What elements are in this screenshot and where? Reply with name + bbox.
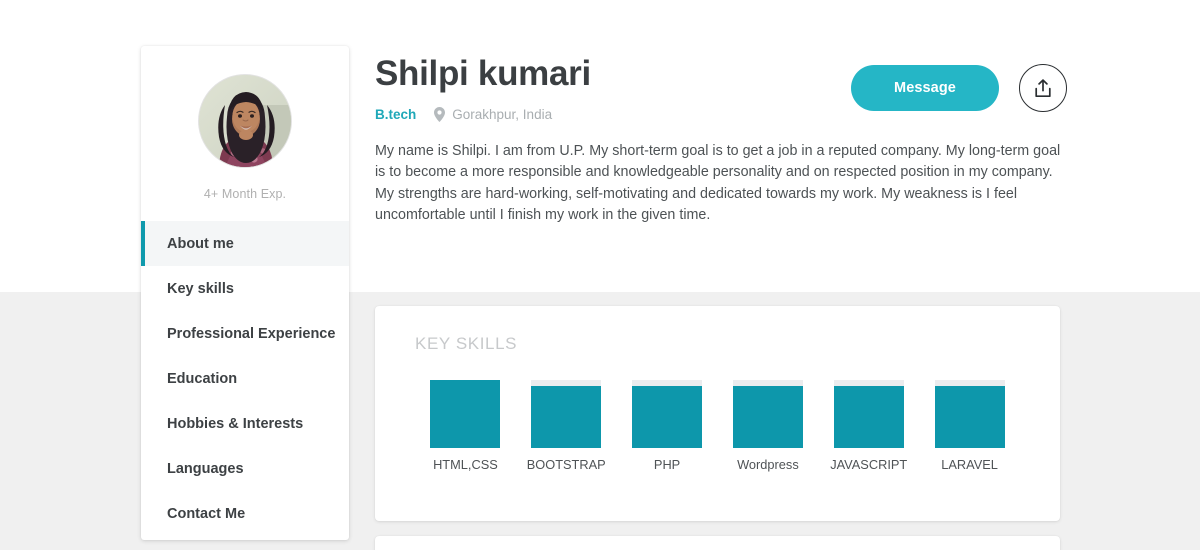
sidebar-item-label: Professional Experience	[167, 326, 335, 342]
sidebar-item-contact-me[interactable]: Contact Me	[141, 491, 349, 536]
skill-label: LARAVEL	[941, 457, 998, 472]
next-section-card	[375, 536, 1060, 550]
message-button[interactable]: Message	[851, 65, 999, 111]
sidebar-item-label: Education	[167, 371, 237, 387]
sidebar-item-education[interactable]: Education	[141, 356, 349, 401]
skill-item: Wordpress	[717, 380, 818, 472]
skill-item: JAVASCRIPT	[818, 380, 919, 472]
avatar-section: 4+ Month Exp.	[141, 46, 349, 201]
skill-bar-fill	[632, 386, 702, 448]
skill-bar-fill	[430, 380, 500, 448]
skill-item: BOOTSTRAP	[516, 380, 617, 472]
skill-bar-track	[834, 380, 904, 448]
sidebar-item-key-skills[interactable]: Key skills	[141, 266, 349, 311]
location-text: Gorakhpur, India	[452, 107, 552, 122]
key-skills-card: KEY SKILLS HTML,CSS BOOTSTRAP PHP	[375, 306, 1060, 521]
profile-sidebar: 4+ Month Exp. About me Key skills Profes…	[141, 46, 349, 540]
skill-bar-track	[632, 380, 702, 448]
profile-page: 4+ Month Exp. About me Key skills Profes…	[0, 0, 1200, 550]
map-pin-icon	[434, 107, 445, 122]
skill-label: BOOTSTRAP	[527, 457, 606, 472]
sidebar-item-professional-experience[interactable]: Professional Experience	[141, 311, 349, 356]
sidebar-item-label: About me	[167, 236, 234, 252]
sidebar-item-label: Contact Me	[167, 506, 245, 522]
degree-badge: B.tech	[375, 107, 416, 122]
key-skills-chart: HTML,CSS BOOTSTRAP PHP Wordpress	[415, 380, 1020, 472]
profile-actions: Message	[851, 64, 1067, 112]
skill-item: HTML,CSS	[415, 380, 516, 472]
sidebar-item-label: Key skills	[167, 281, 234, 297]
bio-text: My name is Shilpi. I am from U.P. My sho…	[375, 141, 1065, 227]
avatar	[198, 74, 292, 168]
skill-bar-track	[531, 380, 601, 448]
skill-bar-track	[430, 380, 500, 448]
skill-label: HTML,CSS	[433, 457, 498, 472]
skill-label: PHP	[654, 457, 680, 472]
skill-bar-fill	[935, 386, 1005, 448]
skill-bar-fill	[834, 386, 904, 448]
skill-item: LARAVEL	[919, 380, 1020, 472]
skill-bar-fill	[733, 386, 803, 448]
skill-bar-track	[935, 380, 1005, 448]
share-button[interactable]	[1019, 64, 1067, 112]
skill-label: Wordpress	[737, 457, 799, 472]
sidebar-item-about-me[interactable]: About me	[141, 221, 349, 266]
skill-label: JAVASCRIPT	[830, 457, 907, 472]
sidebar-item-hobbies-interests[interactable]: Hobbies & Interests	[141, 401, 349, 446]
experience-text: 4+ Month Exp.	[204, 187, 286, 201]
skill-bar-fill	[531, 386, 601, 448]
skill-bar-track	[733, 380, 803, 448]
sidebar-item-languages[interactable]: Languages	[141, 446, 349, 491]
share-upload-icon	[1034, 79, 1052, 98]
sidebar-nav: About me Key skills Professional Experie…	[141, 221, 349, 536]
skill-item: PHP	[617, 380, 718, 472]
sidebar-item-label: Hobbies & Interests	[167, 416, 303, 432]
sidebar-item-label: Languages	[167, 461, 244, 477]
key-skills-title: KEY SKILLS	[415, 334, 517, 354]
